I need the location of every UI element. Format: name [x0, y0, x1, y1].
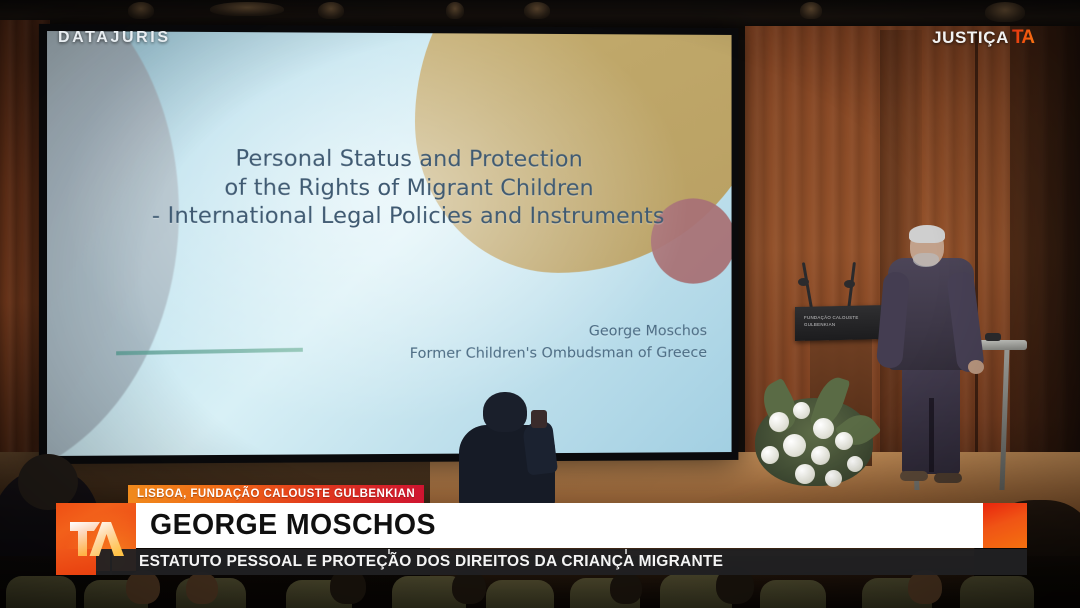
- audience-seat: [960, 576, 1034, 608]
- audience-head: [186, 572, 218, 604]
- ceiling-spotlight: [128, 2, 154, 19]
- slide-author-name: George Moschos: [250, 320, 707, 344]
- topic-subtitle: ESTATUTO PESSOAL E PROTEÇÃO DOS DIREITOS…: [139, 553, 723, 571]
- audience-head: [452, 570, 486, 604]
- broadcaster-watermark-right: JUSTIÇA TA: [932, 28, 1046, 48]
- microphone-head: [798, 278, 809, 286]
- slide-author: George Moschos Former Children's Ombudsm…: [250, 320, 707, 366]
- watermark-justica-label: JUSTIÇA: [932, 28, 1009, 48]
- slide-author-role: Former Children's Ombudsman of Greece: [250, 343, 707, 367]
- ta-logo-icon: [56, 503, 136, 571]
- flower-bloom: [813, 418, 834, 439]
- broadcaster-watermark-left: DATAJURIS: [58, 29, 171, 47]
- slide-title-line: Personal Status and Protection: [128, 144, 687, 174]
- speaker-figure: [882, 228, 986, 486]
- photographer-arm: [522, 420, 558, 475]
- table-object: [985, 333, 1001, 341]
- ceiling-spotlight: [800, 2, 822, 19]
- projection-screen-frame: Personal Status and Protection of the Ri…: [39, 24, 739, 464]
- flower-bloom: [825, 470, 842, 487]
- wall-dark-edge: [1010, 26, 1080, 506]
- speaker-beard: [913, 253, 939, 267]
- foreground-person-left-head: [18, 454, 78, 510]
- speaker-hair: [909, 225, 945, 243]
- location-strip: LISBOA, FUNDAÇÃO CALOUSTE GULBENKIAN: [128, 485, 424, 503]
- lower-third-name-bar: GEORGE MOSCHOS: [136, 503, 983, 548]
- flower-bloom: [835, 432, 853, 450]
- subtitle-tick: [388, 549, 390, 554]
- flower-bloom: [847, 456, 863, 472]
- broadcast-frame: Personal Status and Protection of the Ri…: [0, 0, 1080, 608]
- speaker-leg-gap: [929, 398, 934, 472]
- audience-head: [126, 570, 160, 604]
- photographer-phone: [531, 410, 547, 428]
- audience-seat: [760, 580, 826, 608]
- ta-logo-icon: TA: [1012, 28, 1046, 48]
- flower-arrangement: [755, 372, 873, 490]
- ceiling-spotlight: [210, 2, 284, 16]
- speaker-shoe: [934, 473, 962, 483]
- microphone-head: [844, 280, 855, 288]
- speaker-name: GEORGE MOSCHOS: [150, 509, 436, 542]
- flower-bloom: [811, 446, 830, 465]
- flower-bloom: [761, 446, 779, 464]
- speaker-hand: [968, 360, 984, 374]
- projection-screen: Personal Status and Protection of the Ri…: [47, 31, 732, 456]
- slide-title-line: of the Rights of Migrant Children: [128, 173, 687, 202]
- name-bar-accent: [983, 503, 1027, 548]
- flower-bloom: [783, 434, 806, 457]
- audience-seat: [486, 580, 554, 608]
- slide-title-line: - International Legal Policies and Instr…: [128, 202, 687, 231]
- flower-bloom: [793, 402, 810, 419]
- ceiling-spotlight: [318, 2, 344, 19]
- ceiling-spotlight: [524, 2, 550, 19]
- audience-photographer: [455, 392, 565, 504]
- lectern-label: Fundação Calouste Gulbenkian: [804, 315, 866, 328]
- audience-head: [610, 572, 642, 604]
- audience-head: [908, 570, 942, 604]
- lower-third-subtitle-bar: ESTATUTO PESSOAL E PROTEÇÃO DOS DIREITOS…: [110, 549, 1027, 575]
- channel-logo-box: [56, 503, 136, 571]
- photographer-head: [483, 392, 527, 432]
- ceiling-spotlight: [985, 2, 1025, 22]
- flower-bloom: [795, 464, 815, 484]
- subtitle-tick: [625, 549, 627, 554]
- projector-glow: [47, 31, 732, 456]
- ceiling-spotlight: [446, 2, 464, 19]
- slide-title: Personal Status and Protection of the Ri…: [128, 144, 687, 231]
- audience-seat: [6, 576, 76, 608]
- flower-bloom: [769, 412, 789, 432]
- speaker-shoe: [900, 471, 928, 481]
